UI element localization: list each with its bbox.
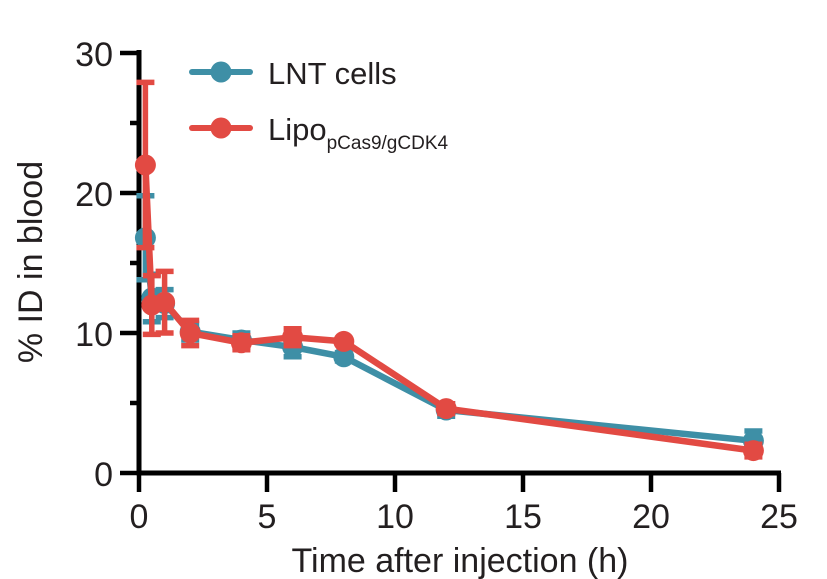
y-tick-label-0: 0	[94, 456, 113, 494]
x-axis-title: Time after injection (h)	[292, 542, 629, 579]
data-point	[180, 323, 201, 344]
data-point	[333, 331, 354, 352]
data-point	[231, 332, 252, 353]
x-tick-label-20: 20	[632, 498, 670, 536]
data-point	[135, 155, 156, 176]
legend-point-marker-0	[211, 62, 232, 83]
x-tick-label-10: 10	[376, 498, 414, 536]
legend-label-1-main: Lipo	[268, 112, 327, 147]
y-axis-title: % ID in blood	[12, 161, 50, 363]
data-point	[436, 398, 457, 419]
x-tick-label-15: 15	[504, 498, 542, 536]
chart-background	[0, 0, 827, 579]
line-chart-figure: 30 20 10 0 0 5 10 15 20 25 Time after in…	[0, 0, 827, 579]
data-point	[282, 327, 303, 348]
x-tick-label-25: 25	[760, 498, 798, 536]
y-tick-label-20: 20	[75, 176, 113, 214]
x-tick-label-5: 5	[258, 498, 277, 536]
data-point	[154, 292, 175, 313]
legend-point-marker-1	[211, 118, 232, 139]
y-tick-label-30: 30	[75, 36, 113, 74]
legend-label-1-subscript: pCas9/gCDK4	[327, 133, 449, 154]
x-tick-label-0: 0	[130, 498, 149, 536]
legend-label-0: LNT cells	[268, 56, 397, 91]
data-point	[743, 440, 764, 461]
y-tick-label-10: 10	[75, 316, 113, 354]
